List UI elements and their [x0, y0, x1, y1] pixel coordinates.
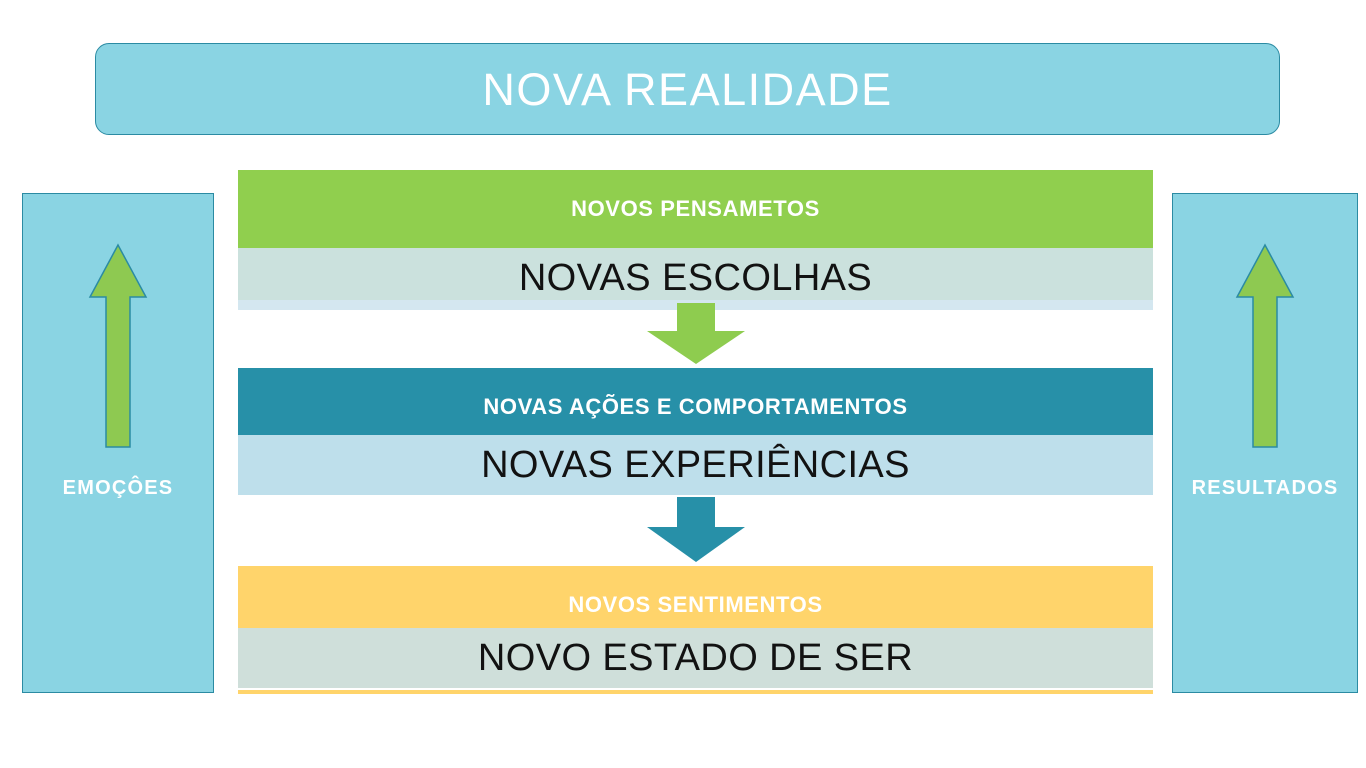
- resultados-label: RESULTADOS: [1173, 477, 1357, 500]
- novas-escolhas-label: NOVAS ESCOLHAS: [519, 257, 872, 300]
- novas-escolhas-band: NOVAS ESCOLHAS: [238, 248, 1153, 308]
- center-stack: NOVOS PENSAMETOS NOVAS ESCOLHAS NOVAS AÇ…: [238, 0, 1153, 768]
- emocoes-panel: EMOÇÔES: [22, 193, 214, 693]
- resultados-panel: RESULTADOS: [1172, 193, 1358, 693]
- up-arrow-icon: [1234, 241, 1296, 451]
- novo-estado-de-ser-band: NOVO ESTADO DE SER: [238, 628, 1153, 688]
- down-arrow-icon: [644, 303, 748, 365]
- slide-canvas: NOVA REALIDADE EMOÇÔES RESULTADOS NOVOS …: [0, 0, 1366, 768]
- down-arrow-icon: [644, 497, 748, 563]
- novos-sentimentos-label: NOVOS SENTIMENTOS: [568, 592, 822, 618]
- novos-pensametos-band: NOVOS PENSAMETOS: [238, 170, 1153, 248]
- emocoes-label: EMOÇÔES: [23, 477, 213, 500]
- novas-experiencias-band: NOVAS EXPERIÊNCIAS: [238, 435, 1153, 495]
- group-3-underline: [238, 690, 1153, 694]
- novos-pensametos-label: NOVOS PENSAMETOS: [571, 196, 820, 222]
- novas-acoes-label: NOVAS AÇÕES E COMPORTAMENTOS: [483, 394, 907, 420]
- novo-estado-de-ser-label: NOVO ESTADO DE SER: [478, 637, 913, 680]
- up-arrow-icon: [87, 241, 149, 451]
- novas-experiencias-label: NOVAS EXPERIÊNCIAS: [481, 444, 910, 487]
